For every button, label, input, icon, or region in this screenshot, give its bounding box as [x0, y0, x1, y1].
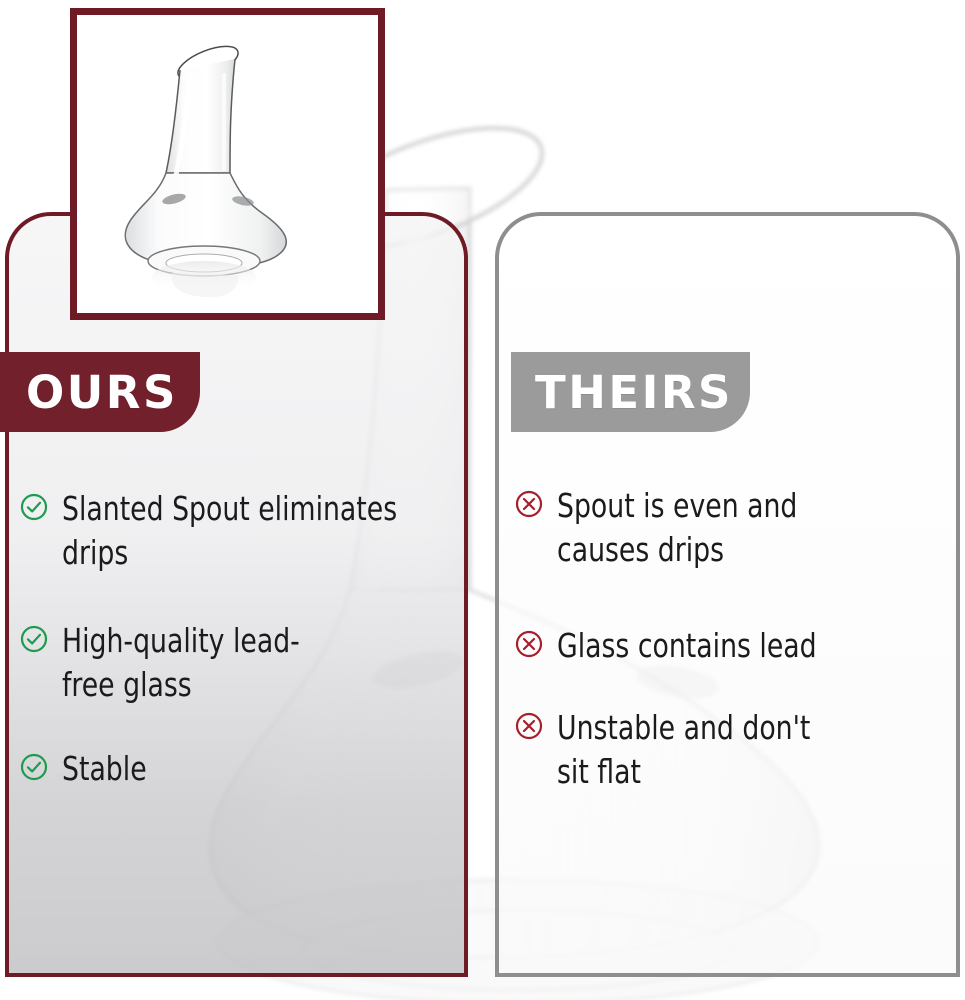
list-item: Slanted Spout eliminates drips [20, 487, 452, 575]
ribbon-ours: OURS [0, 352, 200, 432]
list-item-label: Unstable and don't sit flat [557, 706, 810, 794]
list-item: Stable [20, 747, 452, 791]
list-item: Glass contains lead [515, 624, 945, 668]
feature-list-ours: Slanted Spout eliminates drips High-qual… [20, 487, 452, 816]
x-circle-icon [515, 630, 543, 658]
product-inset-photo [70, 8, 385, 320]
list-item-label: Glass contains lead [557, 624, 817, 668]
list-item: High-quality lead- free glass [20, 619, 452, 707]
list-item-label: Spout is even and causes drips [557, 484, 797, 572]
ribbon-theirs: THEIRS [511, 352, 750, 432]
ribbon-ours-label: OURS [26, 370, 178, 415]
check-circle-icon [20, 493, 48, 521]
list-item-label: High-quality lead- free glass [62, 619, 300, 707]
check-circle-icon [20, 753, 48, 781]
list-item-label: Stable [62, 747, 147, 791]
ribbon-theirs-label: THEIRS [535, 370, 733, 415]
list-item: Unstable and don't sit flat [515, 706, 945, 794]
list-item-label: Slanted Spout eliminates drips [62, 487, 397, 575]
list-item: Spout is even and causes drips [515, 484, 945, 572]
decanter-photo [77, 15, 378, 313]
x-circle-icon [515, 490, 543, 518]
check-circle-icon [20, 625, 48, 653]
x-circle-icon [515, 712, 543, 740]
feature-list-theirs: Spout is even and causes drips Glass con… [515, 484, 945, 819]
